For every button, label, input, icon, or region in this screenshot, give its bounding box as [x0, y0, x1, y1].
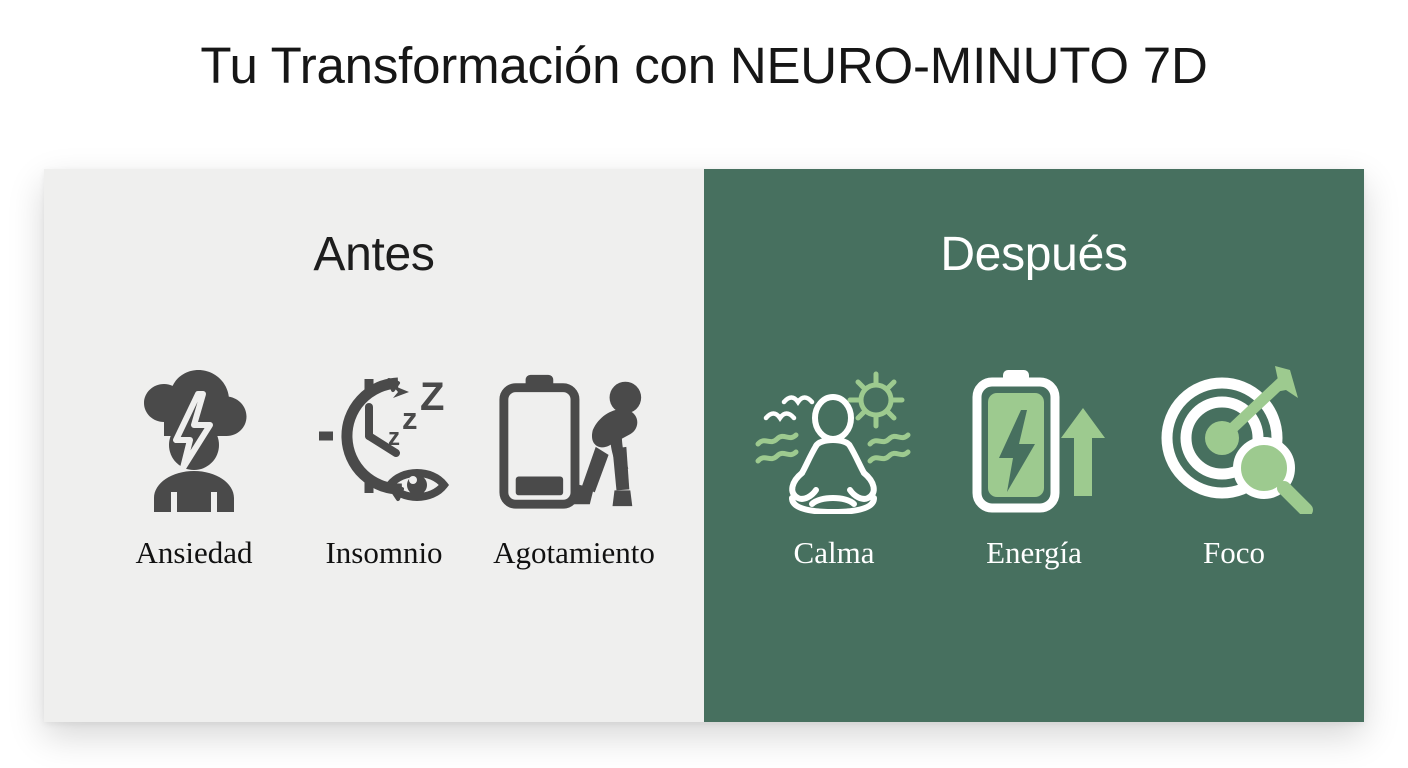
empty-battery-slumped-person-icon: [494, 365, 654, 515]
before-item-label: Agotamiento: [493, 535, 655, 571]
after-item-energia: Energía: [934, 365, 1134, 571]
before-item-label: Ansiedad: [135, 535, 252, 571]
before-item-ansiedad: Ansiedad: [99, 365, 289, 571]
target-arrow-magnifier-icon: [1154, 365, 1314, 515]
before-panel: Antes: [44, 169, 704, 722]
before-items: Ansiedad: [44, 365, 714, 571]
after-item-foco: Foco: [1134, 365, 1334, 571]
after-item-label: Energía: [986, 535, 1082, 571]
after-item-label: Foco: [1203, 535, 1265, 571]
after-item-calma: Calma: [734, 365, 934, 571]
before-item-label: Insomnio: [325, 535, 442, 571]
infographic-stage: Tu Transformación con NEURO-MINUTO 7D An…: [0, 0, 1408, 768]
after-items: Calma: [704, 365, 1364, 571]
after-item-label: Calma: [794, 535, 875, 571]
before-heading: Antes: [44, 227, 704, 282]
before-item-agotamiento: Agotamiento: [479, 365, 669, 571]
after-heading: Después: [704, 227, 1364, 282]
before-after-card: Antes: [44, 169, 1364, 722]
person-storm-cloud-icon: [114, 365, 274, 515]
clock-zzz-eye-icon: z z Z: [304, 365, 464, 515]
page-title: Tu Transformación con NEURO-MINUTO 7D: [0, 36, 1408, 95]
before-item-insomnio: z z Z Insomnio: [289, 365, 479, 571]
meditating-person-sun-icon: [754, 365, 914, 515]
svg-text:z: z: [402, 401, 418, 436]
full-battery-up-arrow-icon: [954, 365, 1114, 515]
svg-text:Z: Z: [420, 375, 444, 419]
after-panel: Después: [704, 169, 1364, 722]
svg-text:z: z: [388, 424, 400, 451]
